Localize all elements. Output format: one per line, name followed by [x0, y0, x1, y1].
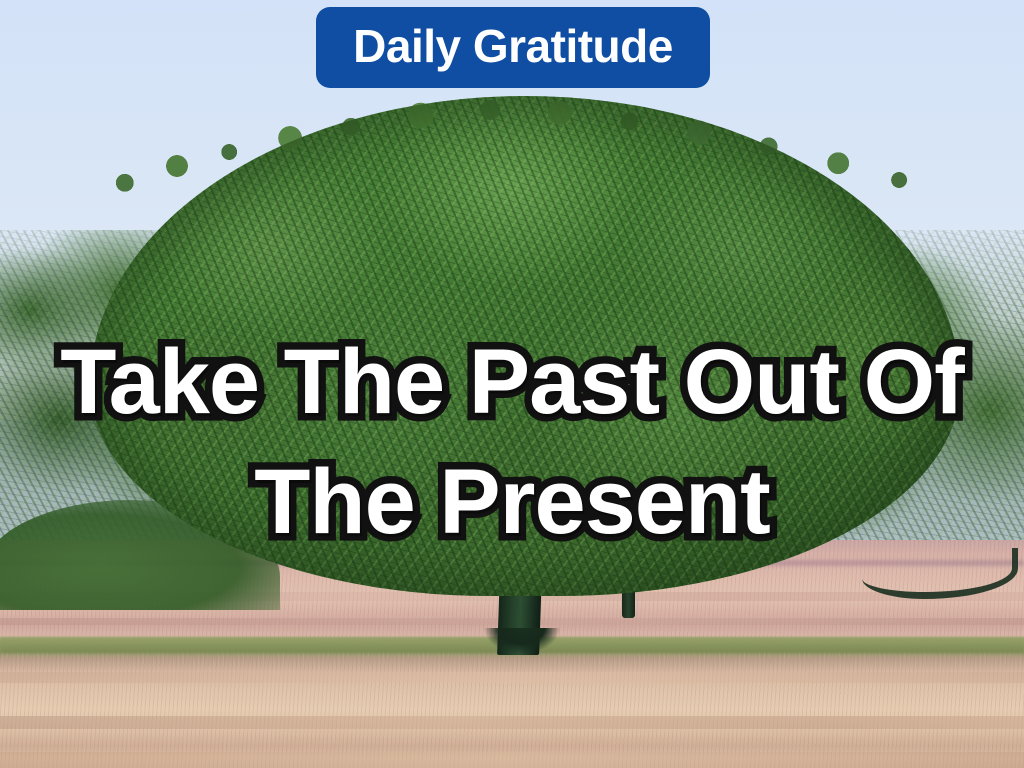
daily-gratitude-badge: Daily Gratitude [316, 7, 710, 88]
field-streak [0, 752, 1024, 768]
field-streak [0, 716, 1024, 729]
field-streak [0, 672, 1024, 683]
daily-gratitude-badge-label: Daily Gratitude [353, 23, 673, 72]
gratitude-poster: Daily Gratitude Take The Past Out Of The… [0, 0, 1024, 768]
tree-trunk-base [484, 628, 560, 658]
